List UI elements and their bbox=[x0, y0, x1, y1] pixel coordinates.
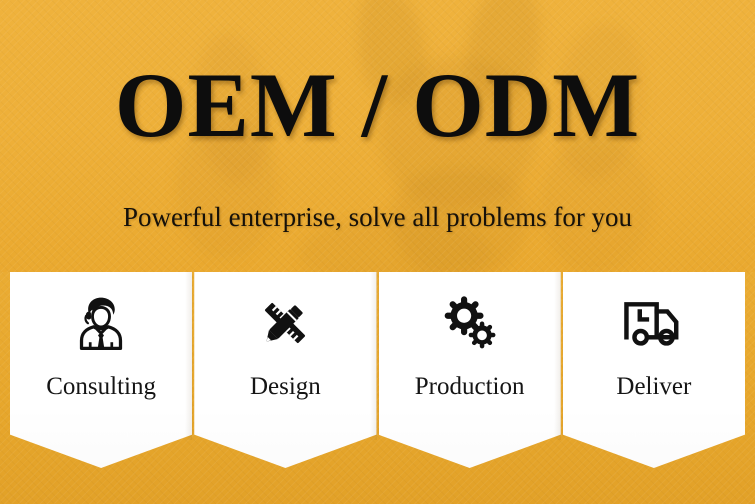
process-card-production[interactable]: Production bbox=[379, 272, 561, 468]
heading-block: OEM / ODM Powerful enterprise, solve all… bbox=[0, 0, 755, 272]
pencil-ruler-icon bbox=[252, 292, 318, 354]
card-label: Deliver bbox=[616, 372, 691, 402]
delivery-truck-icon bbox=[621, 292, 687, 354]
card-label: Production bbox=[415, 372, 525, 402]
gears-icon bbox=[437, 292, 503, 354]
process-card-row: Consulting bbox=[10, 272, 745, 468]
process-card-consulting[interactable]: Consulting bbox=[10, 272, 192, 468]
process-card-deliver[interactable]: Deliver bbox=[563, 272, 745, 468]
process-card-design[interactable]: Design bbox=[194, 272, 376, 468]
page-subtitle: Powerful enterprise, solve all problems … bbox=[0, 200, 755, 234]
oem-odm-banner: OEM / ODM Powerful enterprise, solve all… bbox=[0, 0, 755, 504]
card-label: Consulting bbox=[46, 372, 156, 402]
consultant-person-icon bbox=[68, 292, 134, 354]
card-label: Design bbox=[250, 372, 321, 402]
page-title: OEM / ODM bbox=[0, 56, 755, 154]
